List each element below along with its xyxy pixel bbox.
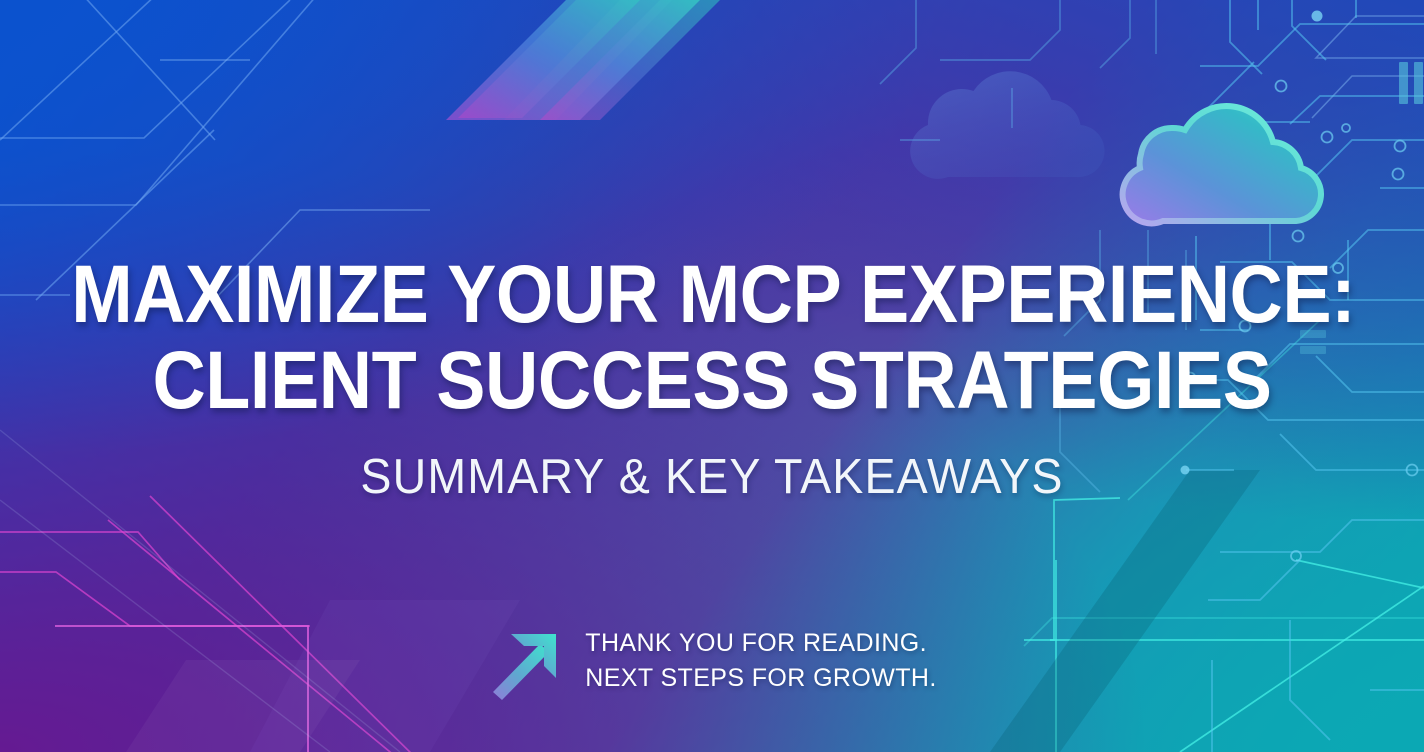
title-line-2: CLIENT SUCCESS STRATEGIES [71,338,1353,424]
slide-content: MAXIMIZE YOUR MCP EXPERIENCE: CLIENT SUC… [0,0,1424,752]
title-line-1: MAXIMIZE YOUR MCP EXPERIENCE: [71,252,1353,338]
footer-line-2: NEXT STEPS FOR GROWTH. [585,661,936,696]
slide-subtitle: SUMMARY & KEY TAKEAWAYS [36,449,1389,505]
footer-line-1: THANK YOU FOR READING. [585,626,936,661]
slide-footer: THANK YOU FOR READING. NEXT STEPS FOR GR… [0,622,1424,700]
slide-title: MAXIMIZE YOUR MCP EXPERIENCE: CLIENT SUC… [0,252,1424,424]
presentation-slide: MAXIMIZE YOUR MCP EXPERIENCE: CLIENT SUC… [0,0,1424,752]
arrow-up-right-icon [487,622,561,700]
footer-text-block: THANK YOU FOR READING. NEXT STEPS FOR GR… [585,626,936,696]
